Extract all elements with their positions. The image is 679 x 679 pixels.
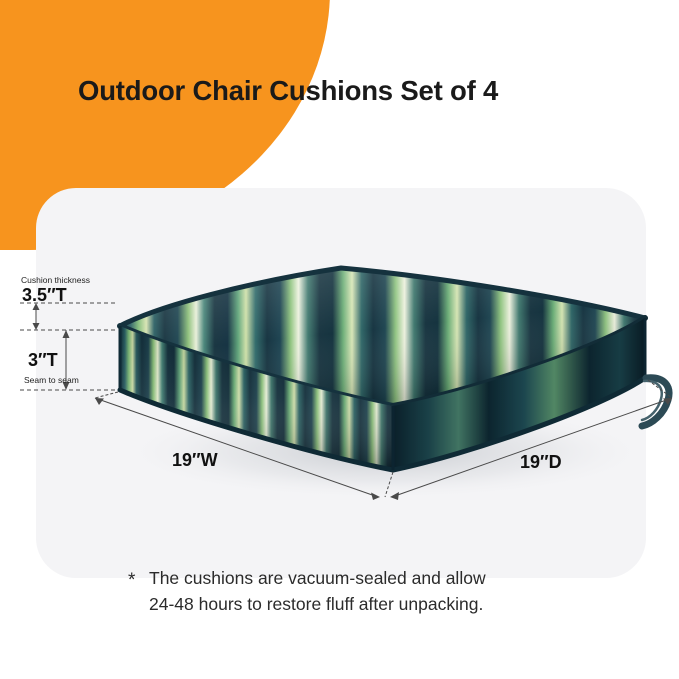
thickness-caption: Cushion thickness: [21, 275, 90, 285]
seam-caption: Seam to seam: [24, 375, 79, 385]
page-title: Outdoor Chair Cushions Set of 4: [78, 74, 638, 107]
footnote-marker: *: [128, 567, 135, 596]
thickness-value: 3.5″T: [22, 285, 67, 306]
footnote: * The cushions are vacuum-sealed and all…: [128, 565, 598, 618]
product-infographic: Outdoor Chair Cushions Set of 4: [0, 0, 679, 679]
carry-handle-icon: [642, 378, 669, 426]
width-value: 19″W: [172, 450, 218, 471]
depth-value: 19″D: [520, 452, 562, 473]
product-background-panel: [36, 188, 646, 578]
seam-value: 3″T: [28, 350, 58, 371]
footnote-line-1: The cushions are vacuum-sealed and allow: [149, 565, 598, 591]
footnote-line-2: 24-48 hours to restore fluff after unpac…: [149, 591, 598, 617]
